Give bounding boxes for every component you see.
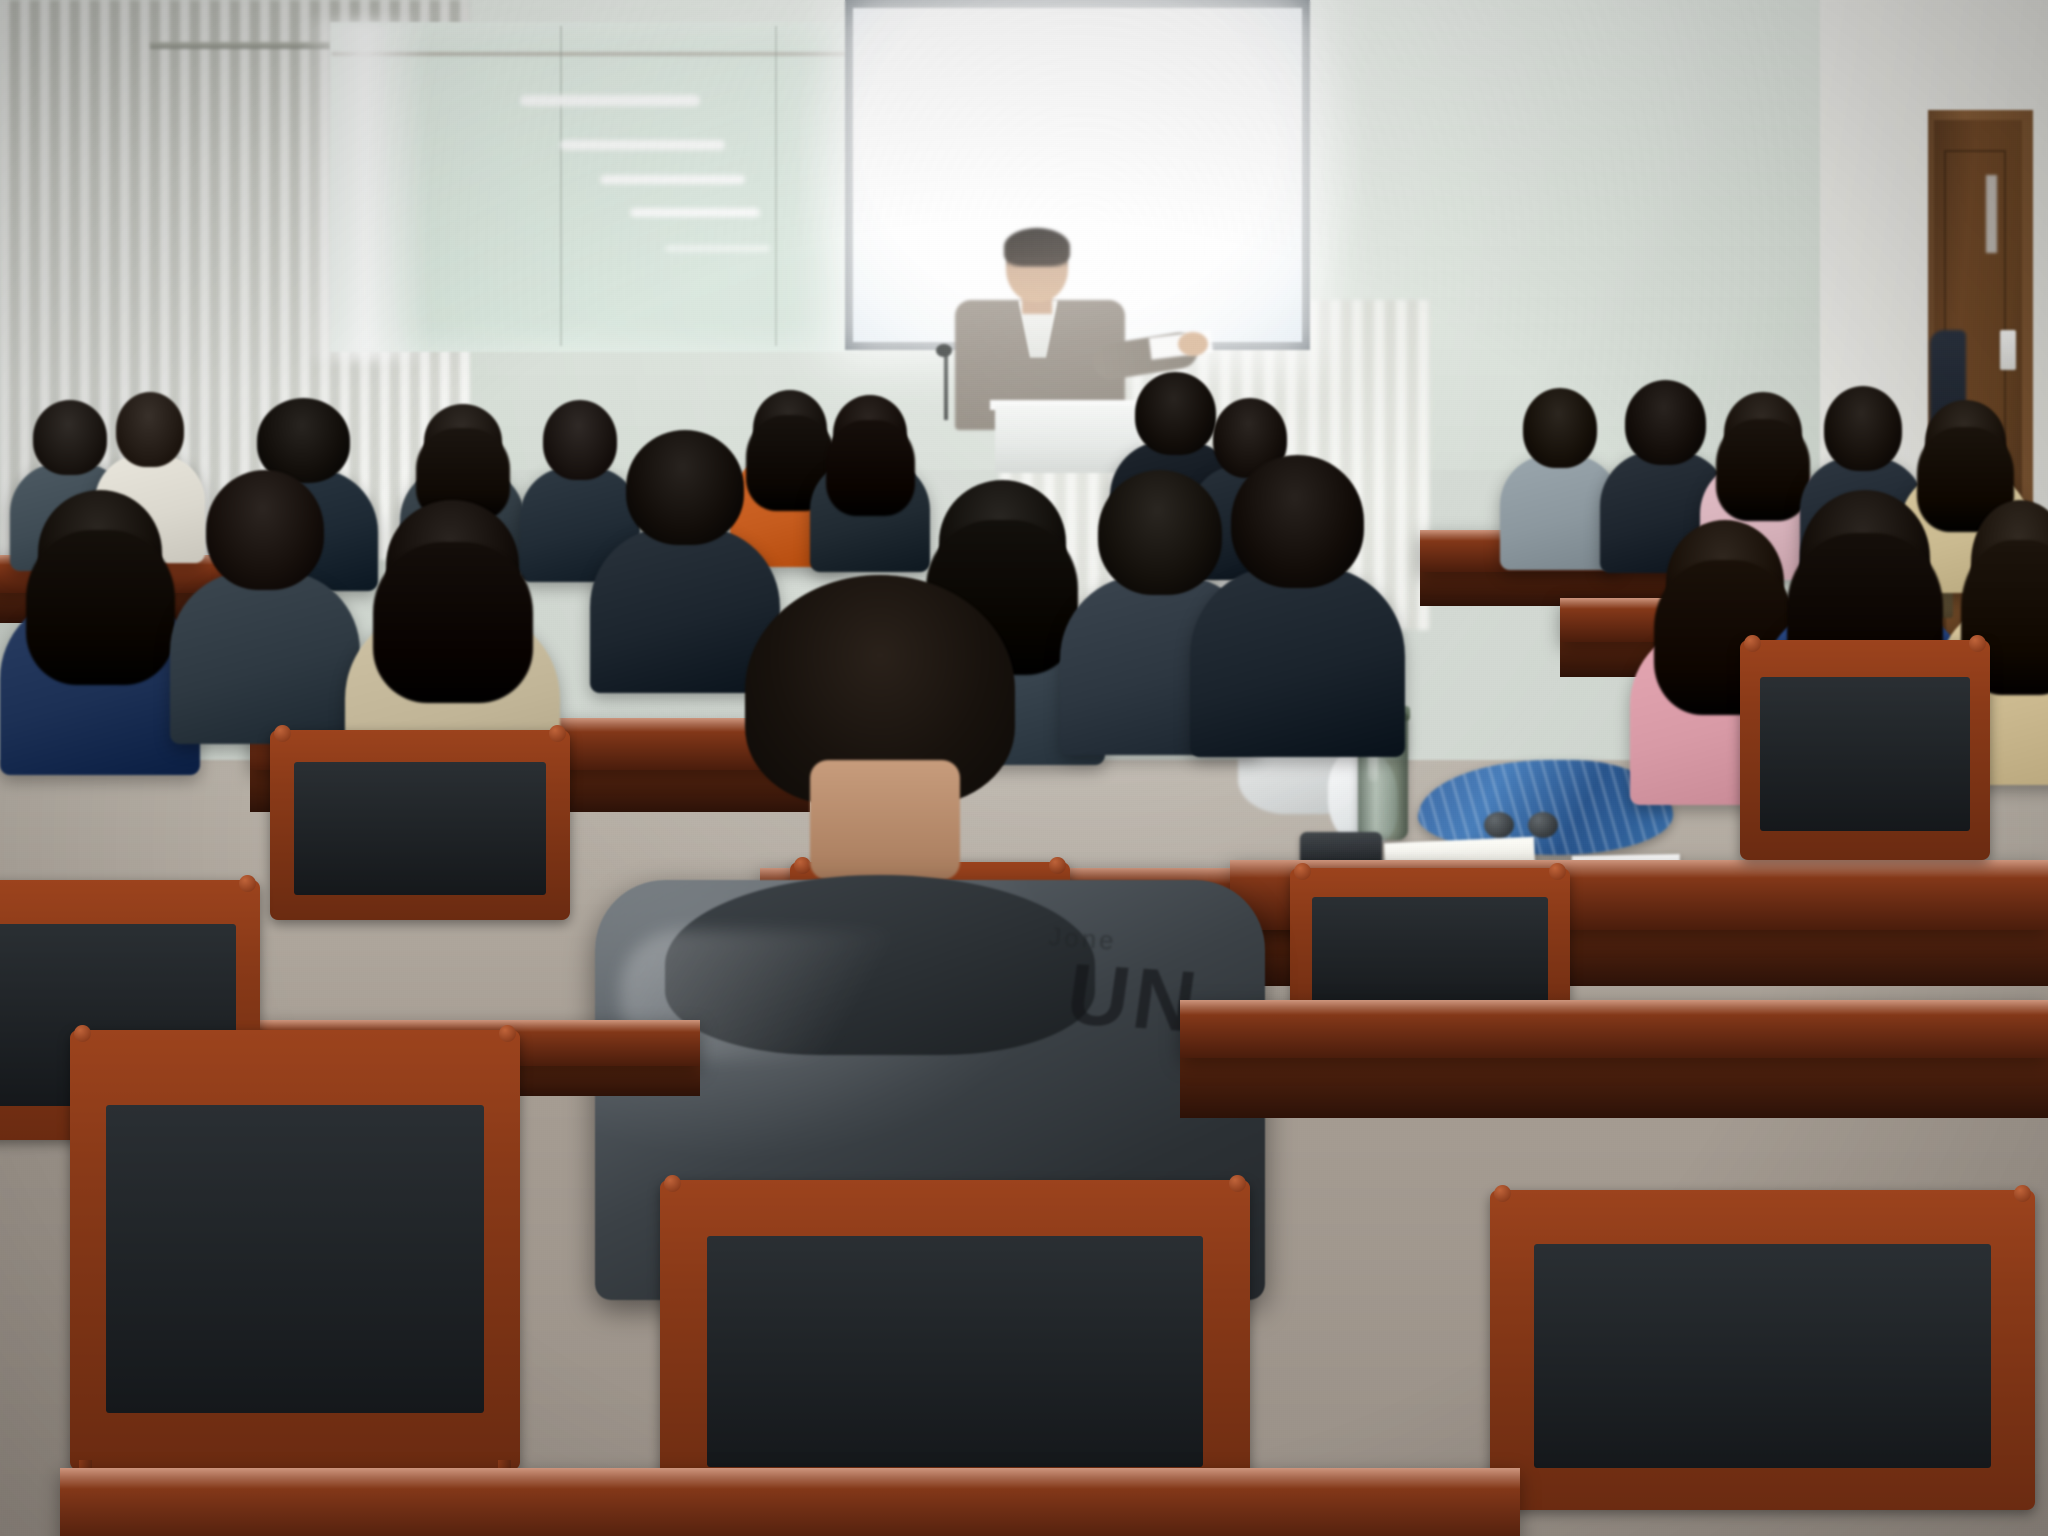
whiteboard-glare [300,20,430,360]
attendee-mid-2 [170,470,360,710]
table-front-right [1180,1000,2048,1058]
foreground-student-neck [810,760,960,880]
whiteboard-seam [560,26,562,346]
attendee-mid-7 [1190,455,1405,720]
microphone-stem [944,348,948,420]
attendee-head [1625,380,1706,465]
attendee-mid-3 [345,500,560,760]
microphone-icon [936,344,952,357]
whiteboard-seam [775,26,777,346]
presenter-glasses [1012,258,1062,267]
table-front-right-apron [1180,1056,2048,1118]
attendee-head [626,430,744,545]
attendee-head [1523,388,1597,468]
ceiling-light-reflection [630,208,760,217]
attendee-long-hair [373,542,533,703]
attendee-head [1231,455,1364,588]
chair-front-left[interactable] [70,1030,520,1470]
attendee-torso [1190,566,1405,757]
projection-screen [853,8,1302,342]
presenter-hand [1178,332,1208,356]
ceiling-light-reflection [600,175,745,184]
attendee-head [1824,386,1902,471]
projection-screen-frame [845,0,1310,350]
ceiling-light-reflection [520,95,700,106]
attendee-long-hair [26,530,175,685]
light-switch[interactable] [2000,330,2016,370]
ceiling-light-reflection [665,245,770,252]
chair-front-center[interactable] [660,1180,1250,1510]
attendee-mid-4 [590,430,780,660]
table-bottom-foreground [60,1468,1520,1536]
attendee-head [116,392,184,467]
chair-front-right[interactable] [1490,1190,2035,1510]
chair-right-far[interactable] [1740,640,1990,860]
attendee-torso [170,571,360,744]
attendee-head [206,470,324,590]
chair-row2-left[interactable] [270,730,570,920]
eyeglasses-icon [1484,812,1558,838]
door-sign [1986,175,1997,253]
photo-scene: Jone UN [0,0,2048,1536]
ceiling-light-reflection [560,140,725,150]
